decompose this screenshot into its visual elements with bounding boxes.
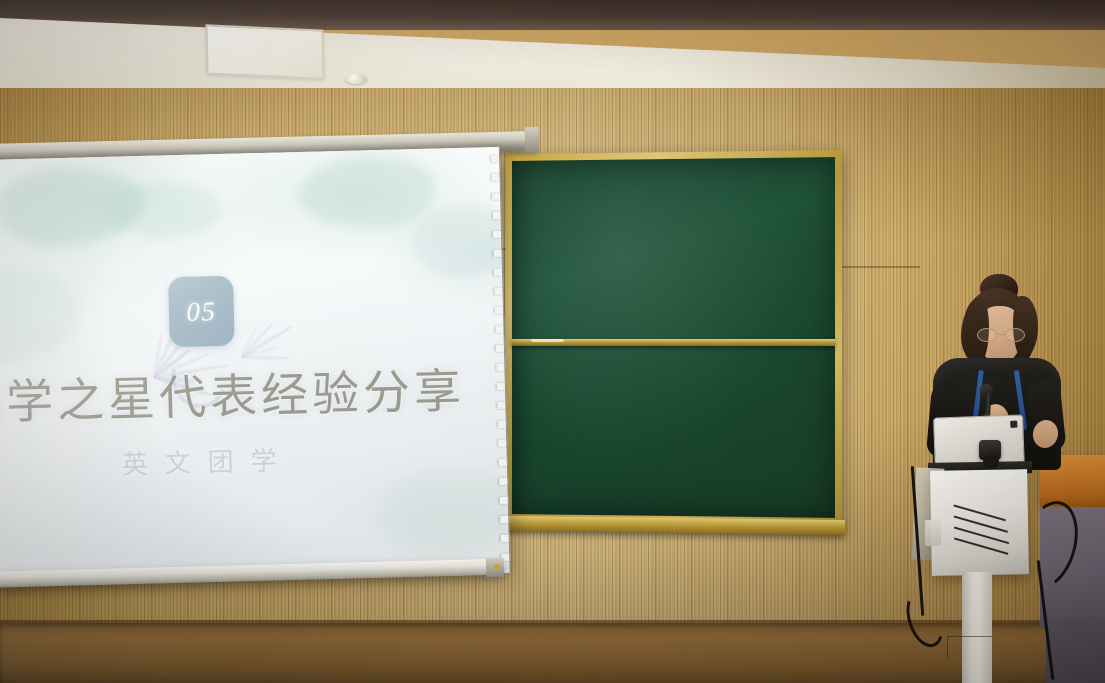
glasses-lens-left — [977, 328, 997, 342]
wall-outlet-plate — [925, 520, 941, 546]
blackboard-frame — [505, 150, 842, 525]
ceiling-access-panel-icon — [205, 24, 324, 79]
slide-subtitle: 英文团学 — [0, 437, 438, 486]
ink-wash-decoration — [0, 268, 81, 363]
screen-housing-endcap — [525, 127, 540, 153]
blackboard — [505, 150, 842, 525]
monitor-sensor-icon — [1010, 421, 1017, 428]
bamboo-blade — [241, 355, 289, 359]
desk-lower-panel — [1046, 617, 1105, 683]
slide-title: 团学之星代表经验分享 — [0, 368, 471, 428]
lecture-hall-photo: 05 团学之星代表经验分享 英文团学 — [0, 0, 1105, 683]
glasses-bridge — [997, 334, 1005, 335]
section-number-badge: 05 — [168, 276, 235, 348]
blackboard-texture — [512, 157, 835, 518]
lectern-front-panel — [930, 469, 1029, 576]
presentation-slide: 05 团学之星代表经验分享 英文团学 — [0, 147, 511, 586]
section-number-text: 05 — [168, 276, 235, 348]
lectern-diagonal-lines-mark — [954, 503, 1013, 548]
screen-bar-screw-icon — [494, 564, 500, 570]
screen-bar-endcap — [486, 558, 504, 577]
blackboard-surface — [512, 157, 835, 518]
recessed-speaker-icon — [345, 74, 367, 84]
hair-strand-right — [1013, 296, 1038, 358]
floor-corner-mark — [947, 636, 993, 658]
chalk-piece-icon — [531, 339, 564, 342]
lectern-column — [962, 572, 992, 683]
ink-wash-decoration — [298, 155, 436, 230]
eyeglasses-icon — [977, 328, 1025, 342]
glasses-lens-right — [1005, 328, 1025, 342]
microphone-knob — [983, 455, 999, 469]
ink-wash-decoration — [378, 468, 511, 558]
projection-screen: 05 团学之星代表经验分享 英文团学 — [0, 147, 511, 586]
